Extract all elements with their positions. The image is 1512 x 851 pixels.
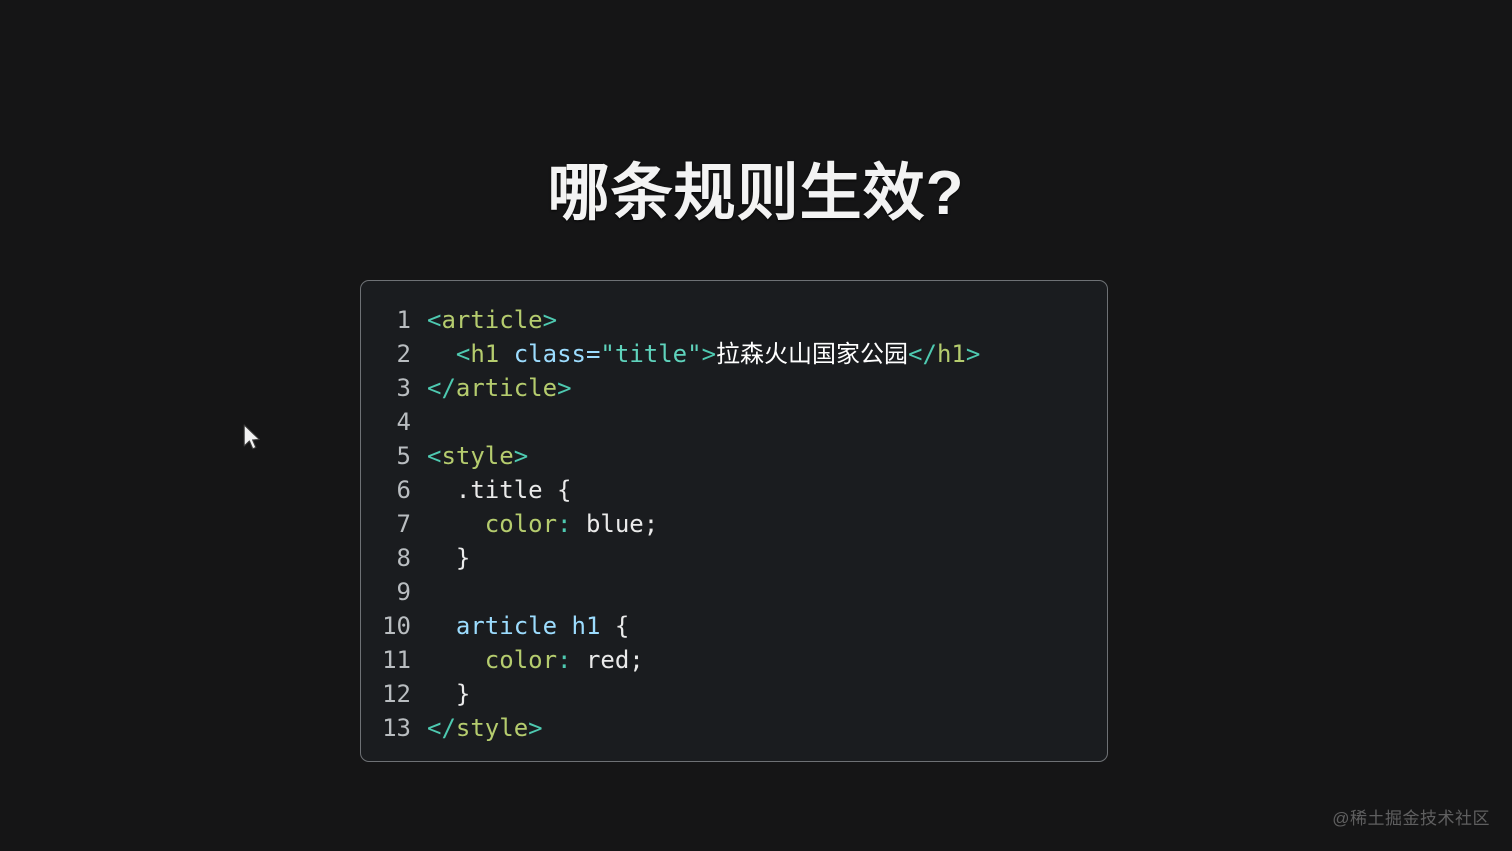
line-number: 11	[361, 643, 427, 677]
code-token: red;	[572, 646, 644, 674]
code-block: 1<article>2 <h1 class="title">拉森火山国家公园</…	[360, 280, 1108, 762]
code-token: =	[586, 340, 600, 368]
code-token	[427, 612, 456, 640]
code-line: 9	[361, 575, 1107, 609]
code-line: 5<style>	[361, 439, 1107, 473]
code-line-text: .title {	[427, 473, 1107, 507]
code-line-text: }	[427, 677, 1107, 711]
line-number: 9	[361, 575, 427, 609]
code-token: >	[514, 442, 528, 470]
code-token: >	[543, 306, 557, 334]
code-line: 8 }	[361, 541, 1107, 575]
line-number: 6	[361, 473, 427, 507]
code-token: </	[908, 340, 937, 368]
code-line: 13</style>	[361, 711, 1107, 745]
code-line-text: </article>	[427, 371, 1107, 405]
line-number: 10	[361, 609, 427, 643]
code-token: :	[557, 646, 571, 674]
code-token: </	[427, 374, 456, 402]
code-token: style	[441, 442, 513, 470]
code-line-text: color: blue;	[427, 507, 1107, 541]
code-line: 4	[361, 405, 1107, 439]
code-token: >	[528, 714, 542, 742]
code-line-text: article h1 {	[427, 609, 1107, 643]
code-token: class	[514, 340, 586, 368]
code-token: blue;	[572, 510, 659, 538]
code-line-text: </style>	[427, 711, 1107, 745]
line-number: 8	[361, 541, 427, 575]
code-token: >	[557, 374, 571, 402]
slide-canvas: 哪条规则生效? 1<article>2 <h1 class="title">拉森…	[0, 0, 1512, 851]
code-line-text: color: red;	[427, 643, 1107, 677]
line-number: 3	[361, 371, 427, 405]
code-token	[427, 510, 485, 538]
code-token: <	[427, 306, 441, 334]
code-line: 1<article>	[361, 303, 1107, 337]
code-token: color	[485, 510, 557, 538]
code-line: 10 article h1 {	[361, 609, 1107, 643]
code-line: 3</article>	[361, 371, 1107, 405]
code-token: >	[966, 340, 980, 368]
code-line-text: <article>	[427, 303, 1107, 337]
page-title: 哪条规则生效?	[0, 160, 1512, 228]
code-token: {	[600, 612, 629, 640]
code-token: h1	[937, 340, 966, 368]
code-token: 拉森火山国家公园	[716, 340, 908, 368]
code-token: <	[456, 340, 470, 368]
line-number: 1	[361, 303, 427, 337]
watermark: @稀土掘金技术社区	[1332, 804, 1490, 829]
line-number: 2	[361, 337, 427, 371]
code-line: 6 .title {	[361, 473, 1107, 507]
code-line-text: <h1 class="title">拉森火山国家公园</h1>	[427, 337, 1107, 371]
code-token	[499, 340, 513, 368]
code-token: .title {	[427, 476, 572, 504]
code-line: 11 color: red;	[361, 643, 1107, 677]
line-number: 5	[361, 439, 427, 473]
code-line-text: <style>	[427, 439, 1107, 473]
mouse-cursor-icon	[243, 424, 263, 454]
code-token: >	[702, 340, 716, 368]
code-token	[427, 646, 485, 674]
code-line: 2 <h1 class="title">拉森火山国家公园</h1>	[361, 337, 1107, 371]
code-token: h1	[470, 340, 499, 368]
line-number: 13	[361, 711, 427, 745]
code-token: <	[427, 442, 441, 470]
code-token: }	[427, 680, 470, 708]
code-token: article	[441, 306, 542, 334]
code-token: "title"	[600, 340, 701, 368]
line-number: 4	[361, 405, 427, 439]
code-token	[427, 340, 456, 368]
code-token: }	[427, 544, 470, 572]
line-number: 7	[361, 507, 427, 541]
code-token: article h1	[456, 612, 601, 640]
line-number: 12	[361, 677, 427, 711]
code-token: color	[485, 646, 557, 674]
code-token: article	[456, 374, 557, 402]
code-lines-container: 1<article>2 <h1 class="title">拉森火山国家公园</…	[361, 303, 1107, 745]
code-line: 12 }	[361, 677, 1107, 711]
code-line-text: }	[427, 541, 1107, 575]
code-token: </	[427, 714, 456, 742]
code-token: :	[557, 510, 571, 538]
code-line: 7 color: blue;	[361, 507, 1107, 541]
code-token: style	[456, 714, 528, 742]
